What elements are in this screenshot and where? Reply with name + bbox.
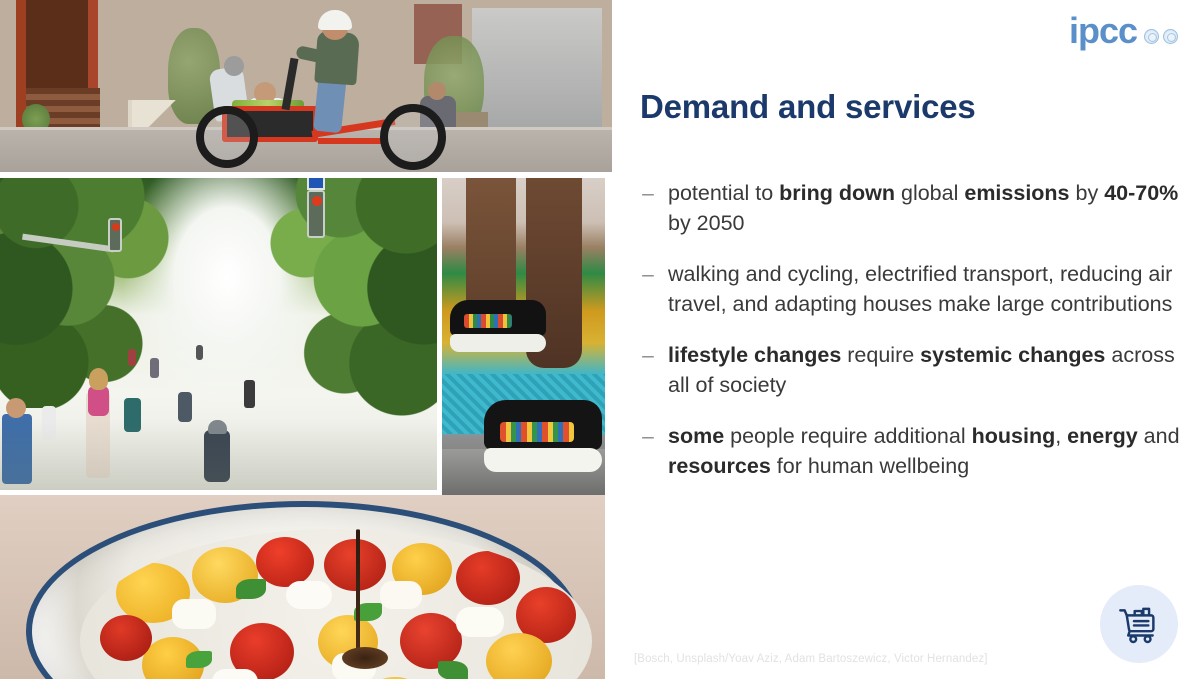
pedestrian-head-1 <box>224 56 244 76</box>
blue-road-sign <box>307 178 325 190</box>
sneaker-front-pattern <box>500 422 574 442</box>
balsamic-drizzle-stream <box>356 529 360 659</box>
traffic-light-left-red-lamp <box>112 223 120 231</box>
slide-root: ipcc Demand and services – potential to … <box>0 0 1200 679</box>
sneaker-back-sole <box>450 334 546 352</box>
basil-leaf <box>186 651 212 668</box>
mozzarella-piece <box>172 599 216 629</box>
photo-cargo-bike-street <box>0 0 612 172</box>
bullet-dash-icon: – <box>628 340 668 400</box>
walker-distant-1 <box>150 358 159 378</box>
mozzarella-piece <box>286 581 332 609</box>
sneaker-back <box>450 300 546 352</box>
bullet-text-3: lifestyle changes require systemic chang… <box>668 340 1188 400</box>
basil-leaf <box>438 661 468 679</box>
ipcc-logo-text: ipcc <box>1069 14 1137 48</box>
sneaker-front <box>484 400 602 472</box>
walker-distant-3 <box>196 345 203 360</box>
mozzarella-piece <box>380 581 422 609</box>
cyclist-mid <box>178 392 192 422</box>
traffic-light-right-red-lamp <box>312 196 322 206</box>
mozzarella-piece <box>456 607 504 637</box>
wmo-emblem-icon <box>1144 29 1159 44</box>
traffic-light-right <box>307 190 325 238</box>
walker-foreground-woman-top <box>88 386 109 416</box>
basil-leaf <box>236 579 266 599</box>
list-item: – lifestyle changes require systemic cha… <box>628 340 1188 400</box>
bullet-text-1: potential to bring down global emissions… <box>668 178 1188 238</box>
walker-distant-2 <box>128 349 136 366</box>
cargo-bike-rear-wheel <box>380 104 446 170</box>
slide-content-panel: ipcc Demand and services – potential to … <box>612 0 1200 679</box>
tomato-red <box>100 615 152 661</box>
bullet-text-2: walking and cycling, electrified transpo… <box>668 259 1188 319</box>
cargo-bike-lower-bar <box>318 138 388 144</box>
cargo-bike-front-wheel <box>196 106 258 168</box>
bullet-dash-icon: – <box>628 259 668 319</box>
list-item: – some people require additional housing… <box>628 421 1188 481</box>
seated-person-head <box>428 82 446 100</box>
list-item: – walking and cycling, electrified trans… <box>628 259 1188 319</box>
unep-emblem-icon <box>1163 29 1178 44</box>
un-emblems-group <box>1144 29 1178 44</box>
list-item: – potential to bring down global emissio… <box>628 178 1188 238</box>
walker-left-man-head <box>6 398 26 418</box>
sneaker-back-pattern <box>464 314 512 328</box>
bullet-text-4: some people require additional housing, … <box>668 421 1188 481</box>
image-credits: [Bosch, Unsplash/Yoav Aziz, Adam Bartosz… <box>634 653 988 665</box>
balsamic-drizzle-pool <box>342 647 388 669</box>
bullet-dash-icon: – <box>628 421 668 481</box>
walker-mid-right <box>244 380 255 408</box>
walker-foreground-woman-hair <box>89 368 108 390</box>
photo-tomato-mozzarella-salad <box>0 495 605 679</box>
photo-tree-lined-avenue <box>0 178 437 490</box>
ipcc-logo: ipcc <box>1069 14 1178 48</box>
page-title: Demand and services <box>640 88 976 126</box>
shopping-cart-icon <box>1116 601 1162 647</box>
avenue-shadow-overlay <box>0 420 437 490</box>
photo-sneakers-walking <box>442 178 605 495</box>
bullet-dash-icon: – <box>628 178 668 238</box>
tomato-red <box>324 539 386 591</box>
bullet-list: – potential to bring down global emissio… <box>628 178 1188 481</box>
salad-bowl-interior <box>80 529 592 679</box>
mozzarella-piece <box>212 669 258 679</box>
sneaker-front-sole <box>484 448 602 472</box>
traffic-light-left <box>108 218 122 252</box>
demand-sector-badge <box>1100 585 1178 663</box>
shopfront-window <box>472 8 602 128</box>
tomato-red <box>456 551 520 605</box>
